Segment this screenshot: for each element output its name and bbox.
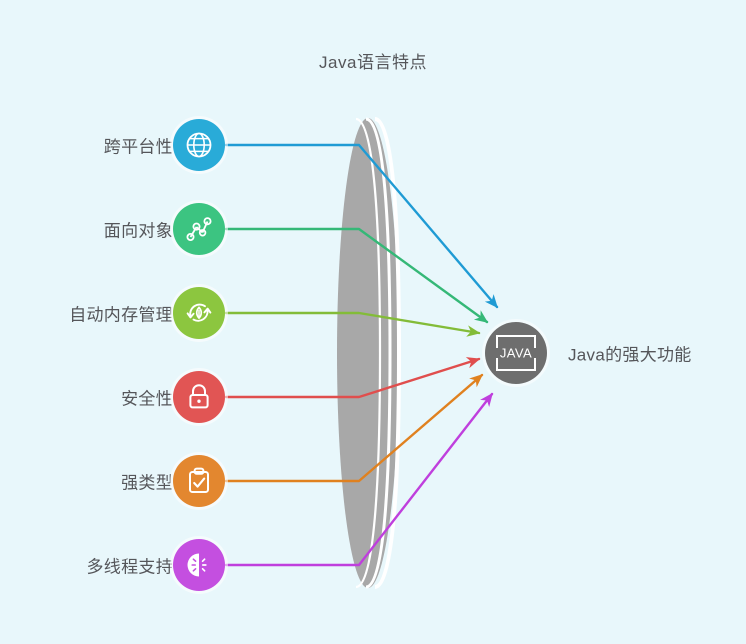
feature-label-an-quan-xing: 安全性 bbox=[121, 385, 173, 410]
feature-label-zi-dong-nei-cun-guan-li: 自动内存管理 bbox=[69, 301, 173, 326]
diagram-canvas: Java语言特点 bbox=[0, 0, 746, 644]
center-disc-stack bbox=[337, 118, 399, 588]
feature-label-kua-ping-tai-xing: 跨平台性 bbox=[104, 133, 173, 158]
feature-label-qiang-lei-xing: 强类型 bbox=[121, 469, 173, 494]
lock-icon[interactable] bbox=[173, 371, 225, 423]
network-nodes-icon[interactable] bbox=[173, 203, 225, 255]
feature-label-duo-xian-cheng-zhi-chi: 多线程支持 bbox=[87, 553, 174, 578]
java-logo-icon[interactable]: JAVA bbox=[485, 322, 547, 384]
java-mark: JAVA bbox=[495, 335, 537, 371]
java-bracket-bottom-icon bbox=[496, 358, 536, 371]
recycle-leaf-icon[interactable] bbox=[173, 287, 225, 339]
feature-label-mian-xiang-dui-xiang: 面向对象 bbox=[104, 217, 173, 242]
globe-icon[interactable] bbox=[173, 119, 225, 171]
clipboard-check-icon[interactable] bbox=[173, 455, 225, 507]
target-label: Java的强大功能 bbox=[568, 341, 692, 366]
thread-dial-icon[interactable] bbox=[173, 539, 225, 591]
